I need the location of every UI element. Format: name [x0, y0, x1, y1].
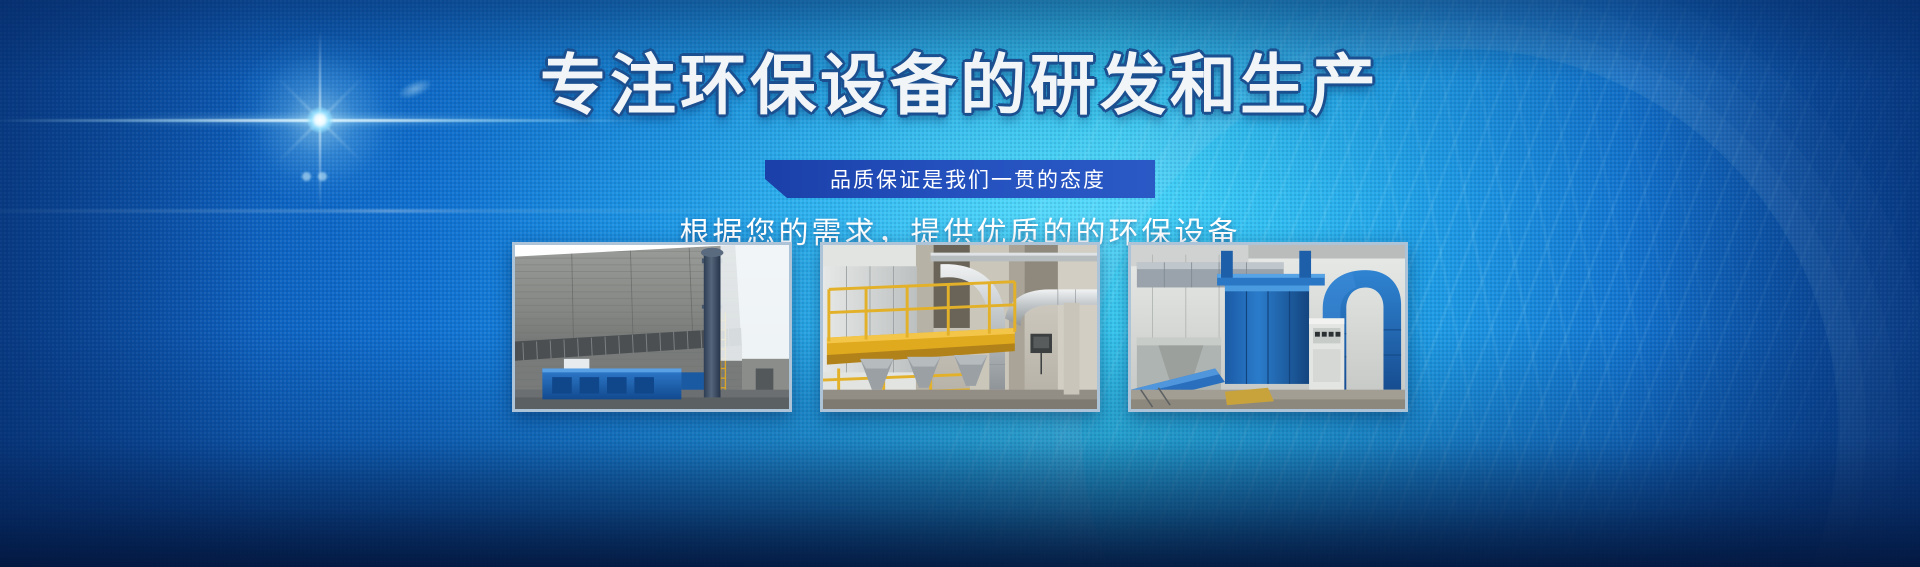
factory-exterior-image — [515, 245, 789, 409]
product-photo-1[interactable] — [512, 242, 792, 412]
product-photo-3[interactable] — [1128, 242, 1408, 412]
promo-banner: 专注环保设备的研发和生产 品质保证是我们一贯的态度 根据您的需求，提供优质的的环… — [0, 0, 1920, 567]
ribbon-label: 品质保证是我们一贯的态度 — [814, 164, 1106, 194]
ribbon-badge: 品质保证是我们一贯的态度 — [765, 160, 1155, 198]
cyclone-dust-collector-image — [1131, 245, 1405, 409]
product-photo-2[interactable] — [820, 242, 1100, 412]
product-photo-strip — [512, 242, 1408, 412]
workshop-platform-image — [823, 245, 1097, 409]
banner-headline: 专注环保设备的研发和生产 — [0, 52, 1920, 118]
